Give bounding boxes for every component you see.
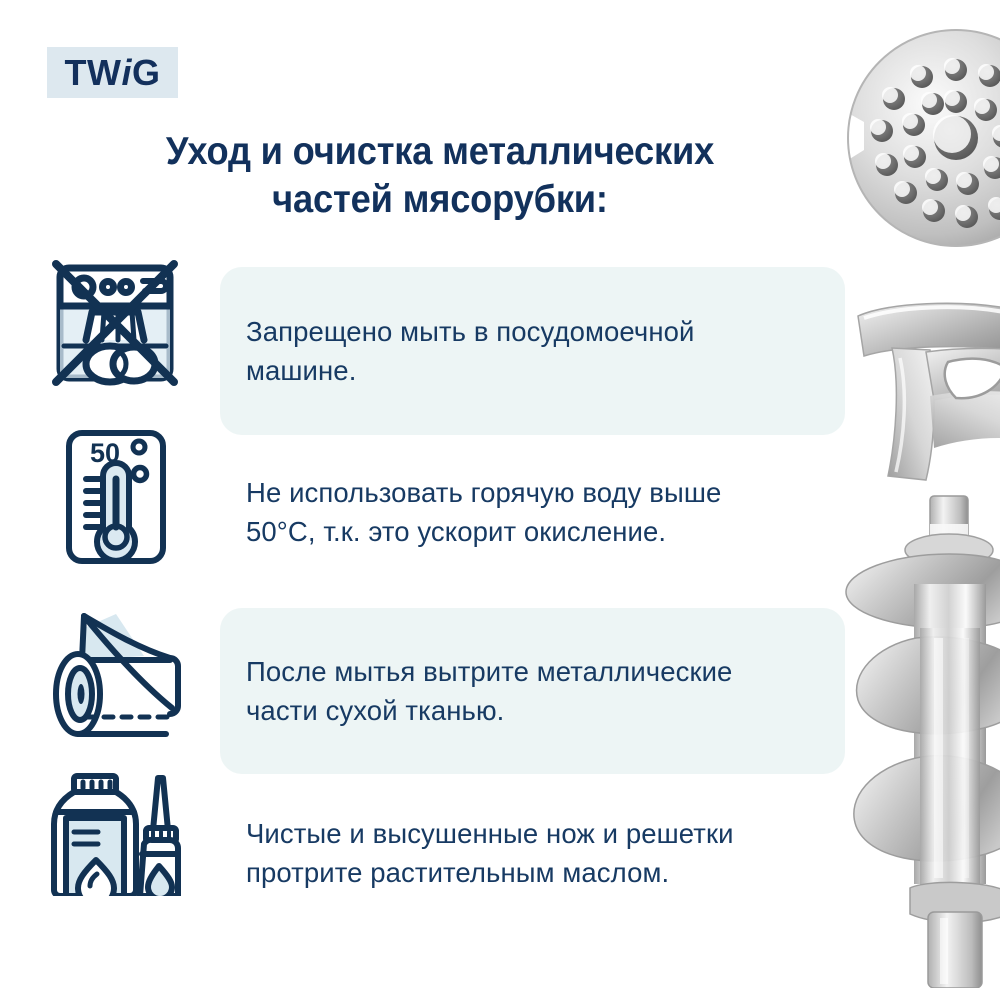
thermometer-label: 50 [90, 438, 120, 468]
dishwasher-prohibited-icon [46, 254, 184, 392]
tip-bubble-2: Не использовать горячую воду выше 50°С, … [220, 452, 860, 572]
logo-text-italic: i [121, 52, 132, 93]
tip-bubble-4: Чистые и высушенные нож и решетки протри… [220, 793, 860, 913]
thermometer-50-degrees-icon: 50 [60, 427, 172, 567]
cloth-roll-icon [48, 612, 184, 738]
grinder-plate-photo [838, 18, 1000, 258]
brand-logo: TWiG [47, 47, 178, 98]
tip-bubble-1: Запрещено мыть в посудомоечной машине. [220, 267, 845, 435]
tip-text-3: После мытья вытрите металлические части … [246, 652, 732, 730]
oil-bottles-icon [50, 772, 192, 896]
page-title: Уход и очистка металлических частей мясо… [87, 128, 794, 223]
tip-text-4: Чистые и высушенные нож и решетки протри… [246, 814, 734, 892]
logo-text-part1: TW [65, 52, 122, 93]
infographic-page: TWiG Уход и очистка металлических частей… [0, 0, 1000, 1000]
brand-logo-text: TWiG [65, 55, 161, 91]
tip-bubble-3: После мытья вытрите металлические части … [220, 608, 845, 774]
grinder-blade-photo [830, 288, 1000, 488]
grinder-auger-photo [836, 488, 1000, 988]
tip-text-1: Запрещено мыть в посудомоечной машине. [246, 312, 694, 390]
tip-text-2: Не использовать горячую воду выше 50°С, … [246, 473, 721, 551]
logo-text-part2: G [132, 52, 161, 93]
